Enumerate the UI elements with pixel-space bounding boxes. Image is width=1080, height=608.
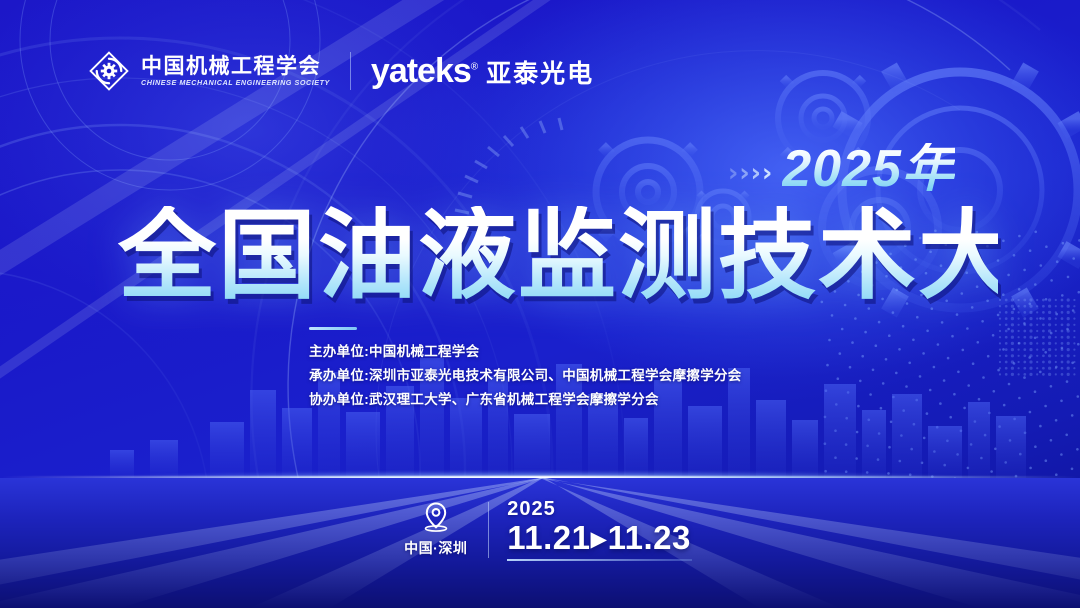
organizers-rule bbox=[309, 327, 357, 330]
logo-divider bbox=[350, 52, 351, 90]
event-year: 2025年 bbox=[782, 143, 955, 195]
conference-poster: 中国机械工程学会 CHINESE MECHANICAL ENGINEERING … bbox=[0, 0, 1080, 608]
cmes-name-cn: 中国机械工程学会 bbox=[141, 56, 330, 77]
organizer-host: 主办单位:中国机械工程学会 bbox=[309, 344, 742, 361]
footer-divider bbox=[488, 502, 490, 558]
organizer-undertaker: 承办单位:深圳市亚泰光电技术有限公司、中国机械工程学会摩擦学分会 bbox=[309, 368, 742, 385]
event-location: 中国·深圳 bbox=[388, 501, 484, 558]
chevron-arrows-icon: ›››› bbox=[728, 160, 772, 185]
logo-header: 中国机械工程学会 CHINESE MECHANICAL ENGINEERING … bbox=[88, 44, 594, 98]
date-underline bbox=[507, 559, 692, 561]
registered-mark-icon: ® bbox=[471, 62, 477, 73]
date-range: 11.21▸11.23 bbox=[507, 520, 691, 556]
cmes-logo[interactable]: 中国机械工程学会 CHINESE MECHANICAL ENGINEERING … bbox=[88, 50, 330, 92]
yateks-brand-en: yateks® bbox=[371, 54, 477, 88]
date-year: 2025 bbox=[507, 498, 556, 520]
yateks-brand-cn: 亚泰光电 bbox=[486, 62, 594, 87]
organizer-coorganizer: 协办单位:武汉理工大学、广东省机械工程学会摩擦学分会 bbox=[309, 392, 742, 409]
map-pin-icon bbox=[421, 501, 451, 533]
page-title: 全国油液监测技术大会 bbox=[118, 206, 998, 304]
organizers-block: 主办单位:中国机械工程学会 承办单位:深圳市亚泰光电技术有限公司、中国机械工程学… bbox=[309, 344, 742, 409]
event-footer: 中国·深圳 2025 11.21▸11.23 bbox=[0, 498, 1080, 561]
cmes-name-en: CHINESE MECHANICAL ENGINEERING SOCIETY bbox=[141, 79, 330, 86]
year-row: ›››› 2025年 bbox=[728, 143, 955, 195]
event-dates: 2025 11.21▸11.23 bbox=[507, 498, 692, 561]
gear-diamond-emblem-icon bbox=[88, 50, 130, 92]
yateks-logo[interactable]: yateks® 亚泰光电 bbox=[371, 54, 594, 88]
location-label: 中国·深圳 bbox=[404, 538, 467, 558]
